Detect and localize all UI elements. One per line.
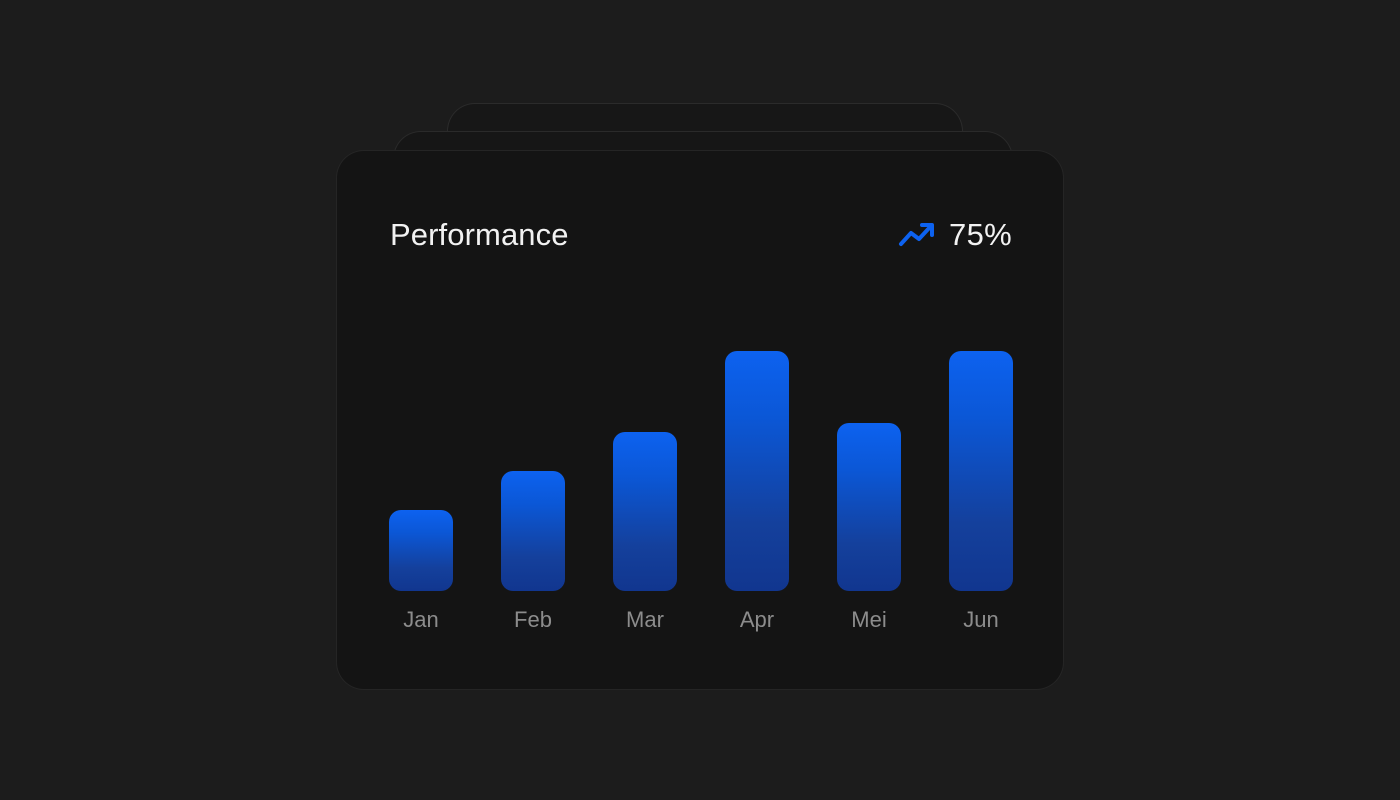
axis-label-mei: Mei	[837, 609, 901, 631]
bar[interactable]	[949, 351, 1013, 591]
bar[interactable]	[389, 510, 453, 591]
axis-label-feb: Feb	[501, 609, 565, 631]
bar[interactable]	[501, 471, 565, 591]
bar-column	[501, 351, 565, 591]
bar-column	[837, 351, 901, 591]
bar-column	[613, 351, 677, 591]
bar[interactable]	[613, 432, 677, 591]
trend-indicator: 75%	[898, 219, 1012, 250]
performance-card: Performance 75%	[336, 150, 1064, 690]
bar-series	[389, 351, 1013, 591]
screen: Performance 75%	[0, 0, 1400, 800]
bar[interactable]	[725, 351, 789, 591]
bar-column	[949, 351, 1013, 591]
bar-column	[389, 351, 453, 591]
trending-up-icon	[898, 219, 936, 249]
trend-value: 75%	[949, 219, 1012, 250]
card-title: Performance	[390, 219, 569, 250]
chart-plot-area: Jan Feb Mar Apr Mei Jun	[389, 351, 1013, 641]
axis-label-mar: Mar	[613, 609, 677, 631]
axis-label-jun: Jun	[949, 609, 1013, 631]
bar[interactable]	[837, 423, 901, 591]
bar-column	[725, 351, 789, 591]
axis-label-apr: Apr	[725, 609, 789, 631]
axis-label-jan: Jan	[389, 609, 453, 631]
category-axis: Jan Feb Mar Apr Mei Jun	[389, 599, 1013, 641]
card-header: Performance 75%	[390, 213, 1012, 255]
performance-bar-chart: Jan Feb Mar Apr Mei Jun	[337, 301, 1063, 641]
